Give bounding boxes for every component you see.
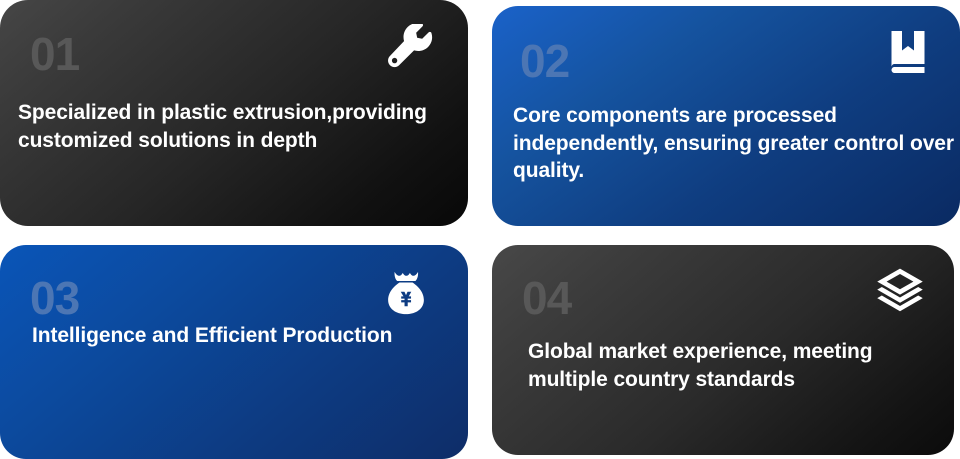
book-bookmark-icon: [884, 28, 932, 76]
feature-card-01[interactable]: 01 Specialized in plastic extrusion,prov…: [0, 0, 468, 226]
card-number-01: 01: [30, 31, 79, 77]
money-bag-yen-icon: [380, 267, 432, 319]
card-text-01: Specialized in plastic extrusion,providi…: [18, 99, 448, 154]
layers-stack-icon: [874, 267, 926, 319]
card-text-03: Intelligence and Efficient Production: [32, 322, 452, 350]
feature-card-03[interactable]: 03 Intelligence and Efficient Production: [0, 245, 468, 459]
card-number-02: 02: [520, 38, 569, 84]
feature-card-04[interactable]: 04 Global market experience, meeting mul…: [492, 245, 954, 455]
feature-card-02[interactable]: 02 Core components are processed indepen…: [492, 6, 960, 226]
card-number-04: 04: [522, 275, 571, 321]
card-number-03: 03: [30, 275, 79, 321]
card-text-02: Core components are processed independen…: [513, 102, 960, 185]
wrench-icon: [386, 24, 436, 74]
card-text-04: Global market experience, meeting multip…: [528, 338, 938, 393]
feature-card-grid: 01 Specialized in plastic extrusion,prov…: [0, 0, 960, 459]
